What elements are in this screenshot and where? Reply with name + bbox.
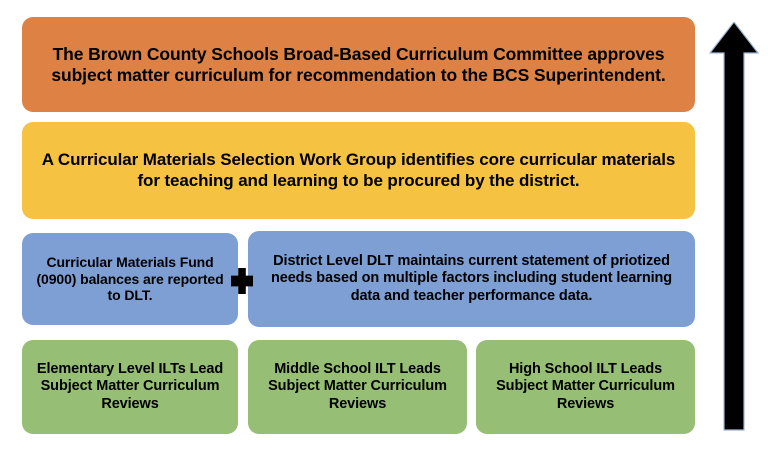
node-elementary-ilt-label: Elementary Level ILTs Lead Subject Matte… <box>32 361 228 412</box>
node-committee[interactable]: The Brown County Schools Broad-Based Cur… <box>22 17 695 112</box>
node-committee-label: The Brown County Schools Broad-Based Cur… <box>32 44 685 85</box>
node-high-school-ilt-label: High School ILT Leads Subject Matter Cur… <box>486 361 685 412</box>
node-high-school-ilt[interactable]: High School ILT Leads Subject Matter Cur… <box>476 340 695 434</box>
node-middle-school-ilt[interactable]: Middle School ILT Leads Subject Matter C… <box>248 340 467 434</box>
node-district-level-dlt[interactable]: District Level DLT maintains current sta… <box>248 231 695 327</box>
node-elementary-ilt[interactable]: Elementary Level ILTs Lead Subject Matte… <box>22 340 238 434</box>
node-curricular-materials-fund[interactable]: Curricular Materials Fund (0900) balance… <box>22 233 238 325</box>
node-curricular-materials-fund-label: Curricular Materials Fund (0900) balance… <box>32 254 228 304</box>
node-workgroup[interactable]: A Curricular Materials Selection Work Gr… <box>22 122 695 219</box>
curriculum-flow-diagram: The Brown County Schools Broad-Based Cur… <box>0 0 768 456</box>
plus-icon <box>231 268 253 294</box>
node-workgroup-label: A Curricular Materials Selection Work Gr… <box>32 150 685 190</box>
node-district-level-dlt-label: District Level DLT maintains current sta… <box>258 253 685 304</box>
arrow-up-icon <box>709 22 759 432</box>
node-middle-school-ilt-label: Middle School ILT Leads Subject Matter C… <box>258 361 457 412</box>
